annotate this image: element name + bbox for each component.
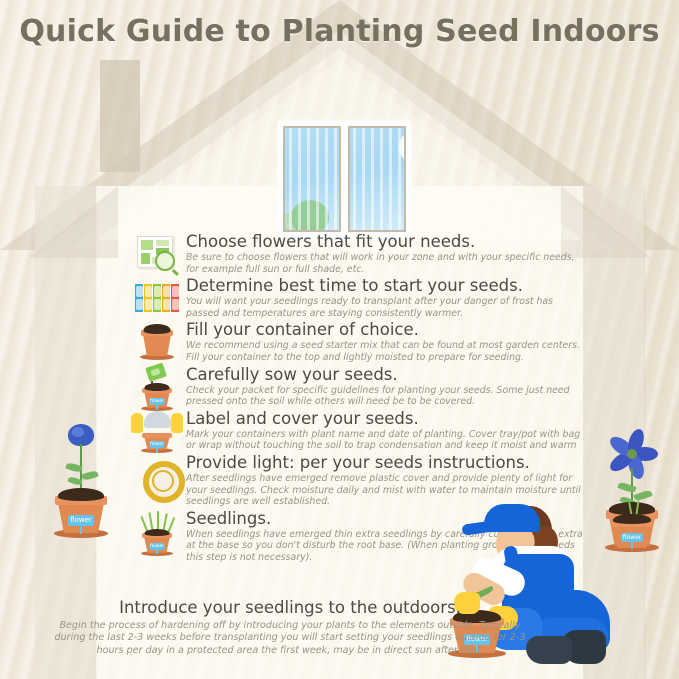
blind-slat <box>325 128 328 230</box>
blind-slat <box>334 128 337 230</box>
bellflower-icon <box>68 424 94 446</box>
blind-slat <box>371 128 374 230</box>
outro-heading: Introduce your seedlings to the outdoors… <box>50 598 530 618</box>
blind-slat <box>298 128 301 230</box>
seed-catalog-icon <box>133 232 181 280</box>
magnifier-icon <box>155 251 175 271</box>
blind-slat <box>353 128 356 230</box>
blind-slat <box>389 128 392 230</box>
gloves-cover-pot-icon: flower <box>133 409 181 457</box>
outro-body: Begin the process of hardening off by in… <box>50 620 530 657</box>
blind-slat <box>316 128 319 230</box>
blind-slat <box>398 128 401 230</box>
step-body: You will want your seedlings ready to tr… <box>186 296 585 319</box>
potted-bellflower-left: flower <box>42 418 120 538</box>
step-body: Mark your containers with plant name and… <box>186 429 585 452</box>
flower-center <box>627 449 637 459</box>
page-title: Quick Guide to Planting Seed Indoors <box>0 14 679 49</box>
step-item-5: flower Label and cover your seeds. Mark … <box>133 409 585 452</box>
filled-pot-icon <box>133 320 181 368</box>
blind-slat <box>362 128 365 230</box>
plastic-cover-icon <box>144 411 171 428</box>
window-pane-left <box>285 128 339 230</box>
step-body: We recommend using a seed starter mix th… <box>186 340 585 363</box>
window-mullion <box>341 126 348 232</box>
step-heading: Choose flowers that fit your needs. <box>186 232 585 251</box>
window-graphic <box>278 121 411 237</box>
sun-light-icon <box>133 453 181 501</box>
outro-block: Introduce your seedlings to the outdoors… <box>50 598 530 657</box>
sowing-seeds-icon: flower <box>133 365 181 413</box>
infographic-page: Quick Guide to Planting Seed Indoors <box>0 0 679 679</box>
glove-icon <box>131 413 143 433</box>
blind-slat <box>307 128 310 230</box>
step-heading: Fill your container of choice. <box>186 320 585 339</box>
pot-tag: flower <box>150 543 165 550</box>
step-body: Check your packet for specific guideline… <box>186 385 585 408</box>
step-heading: Carefully sow your seeds. <box>186 365 585 384</box>
seed-packets-icon <box>133 276 181 324</box>
glove-icon <box>171 413 183 433</box>
gardener-boot <box>526 636 572 664</box>
sky-background <box>350 128 404 230</box>
bush-shape <box>291 200 329 230</box>
sun-ring-icon <box>143 461 185 503</box>
seedlings-pot-icon: flower <box>133 509 181 557</box>
step-heading: Label and cover your seeds. <box>186 409 585 428</box>
step-item-1: Choose flowers that fit your needs. Be s… <box>133 232 585 275</box>
step-item-4: flower Carefully sow your seeds. Check y… <box>133 365 585 408</box>
step-heading: Determine best time to start your seeds. <box>186 276 585 295</box>
pot-tag: flower <box>150 398 165 405</box>
blind-slat <box>289 128 292 230</box>
step-item-2: Determine best time to start your seeds.… <box>133 276 585 319</box>
step-heading: Provide light: per your seeds instructio… <box>186 453 585 472</box>
blind-slat <box>380 128 383 230</box>
seed-packet-icon <box>145 362 166 381</box>
step-body: Be sure to choose flowers that will work… <box>186 252 585 275</box>
window-pane-right <box>350 128 404 230</box>
gardener-cap <box>484 504 540 532</box>
pot-tag: flower <box>150 441 165 448</box>
step-item-3: Fill your container of choice. We recomm… <box>133 320 585 363</box>
